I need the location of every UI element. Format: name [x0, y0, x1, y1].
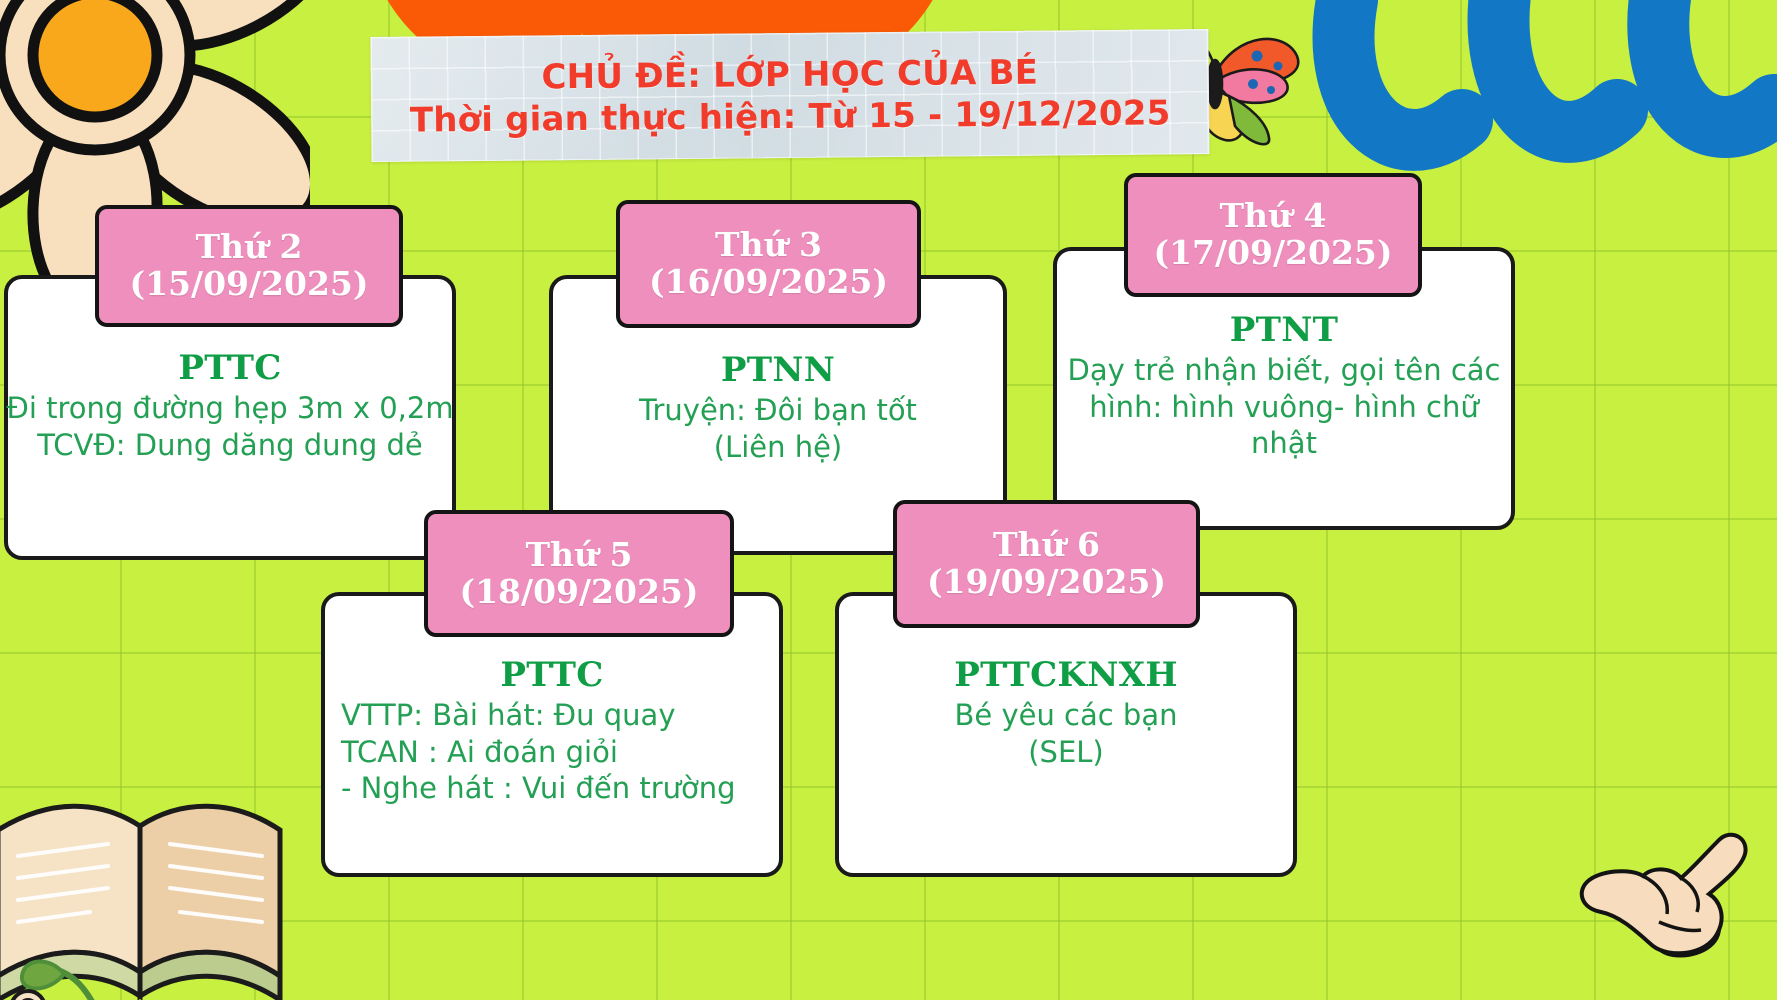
day-label-tuesday: Thứ 3: [715, 227, 822, 264]
day-label-wednesday: Thứ 4: [1220, 198, 1327, 235]
detail-tuesday: Truyện: Đôi bạn tốt (Liên hệ): [549, 392, 1007, 465]
subject-thursday: PTTC: [331, 655, 773, 695]
day-body-wednesday: PTNT Dạy trẻ nhận biết, gọi tên các hình…: [1063, 310, 1505, 462]
day-tab-monday[interactable]: Thứ 2 (15/09/2025): [95, 205, 403, 327]
detail-friday: Bé yêu các bạn (SEL): [845, 697, 1287, 770]
detail-wednesday: Dạy trẻ nhận biết, gọi tên các hình: hìn…: [1063, 352, 1505, 462]
day-tab-thursday[interactable]: Thứ 5 (18/09/2025): [424, 510, 734, 637]
day-date-wednesday: (17/09/2025): [1153, 235, 1392, 272]
subject-tuesday: PTNN: [549, 350, 1007, 390]
day-label-thursday: Thứ 5: [526, 537, 633, 574]
day-label-friday: Thứ 6: [993, 527, 1100, 564]
day-date-thursday: (18/09/2025): [459, 574, 698, 611]
subject-wednesday: PTNT: [1063, 310, 1505, 350]
day-body-friday: PTTCKNXH Bé yêu các bạn (SEL): [845, 655, 1287, 770]
day-body-tuesday: PTNN Truyện: Đôi bạn tốt (Liên hệ): [549, 350, 1007, 465]
day-date-friday: (19/09/2025): [927, 564, 1166, 601]
day-tab-friday[interactable]: Thứ 6 (19/09/2025): [893, 500, 1200, 628]
banner-theme-line: CHỦ ĐỀ: LỚP HỌC CỦA BÉ: [541, 52, 1038, 97]
day-tab-tuesday[interactable]: Thứ 3 (16/09/2025): [616, 200, 921, 328]
banner-period-line: Thời gian thực hiện: Từ 15 - 19/12/2025: [410, 93, 1171, 140]
open-book-icon: [0, 760, 310, 1000]
detail-monday: Đi trong đường hẹp 3m x 0,2m TCVĐ: Dung …: [4, 390, 456, 463]
day-tab-wednesday[interactable]: Thứ 4 (17/09/2025): [1124, 173, 1422, 297]
title-banner: CHỦ ĐỀ: LỚP HỌC CỦA BÉ Thời gian thực hi…: [370, 29, 1209, 162]
day-label-monday: Thứ 2: [196, 229, 303, 266]
day-body-thursday: PTTC VTTP: Bài hát: Đu quay TCAN : Ai đo…: [331, 655, 773, 807]
subject-monday: PTTC: [4, 348, 456, 388]
pointing-hand-icon: [1569, 810, 1759, 970]
day-body-monday: PTTC Đi trong đường hẹp 3m x 0,2m TCVĐ: …: [4, 348, 456, 463]
day-date-monday: (15/09/2025): [129, 266, 368, 303]
subject-friday: PTTCKNXH: [845, 655, 1287, 695]
day-date-tuesday: (16/09/2025): [649, 264, 888, 301]
weekly-plan-poster: CHỦ ĐỀ: LỚP HỌC CỦA BÉ Thời gian thực hi…: [0, 0, 1777, 1000]
detail-thursday: VTTP: Bài hát: Đu quay TCAN : Ai đoán gi…: [331, 697, 773, 807]
